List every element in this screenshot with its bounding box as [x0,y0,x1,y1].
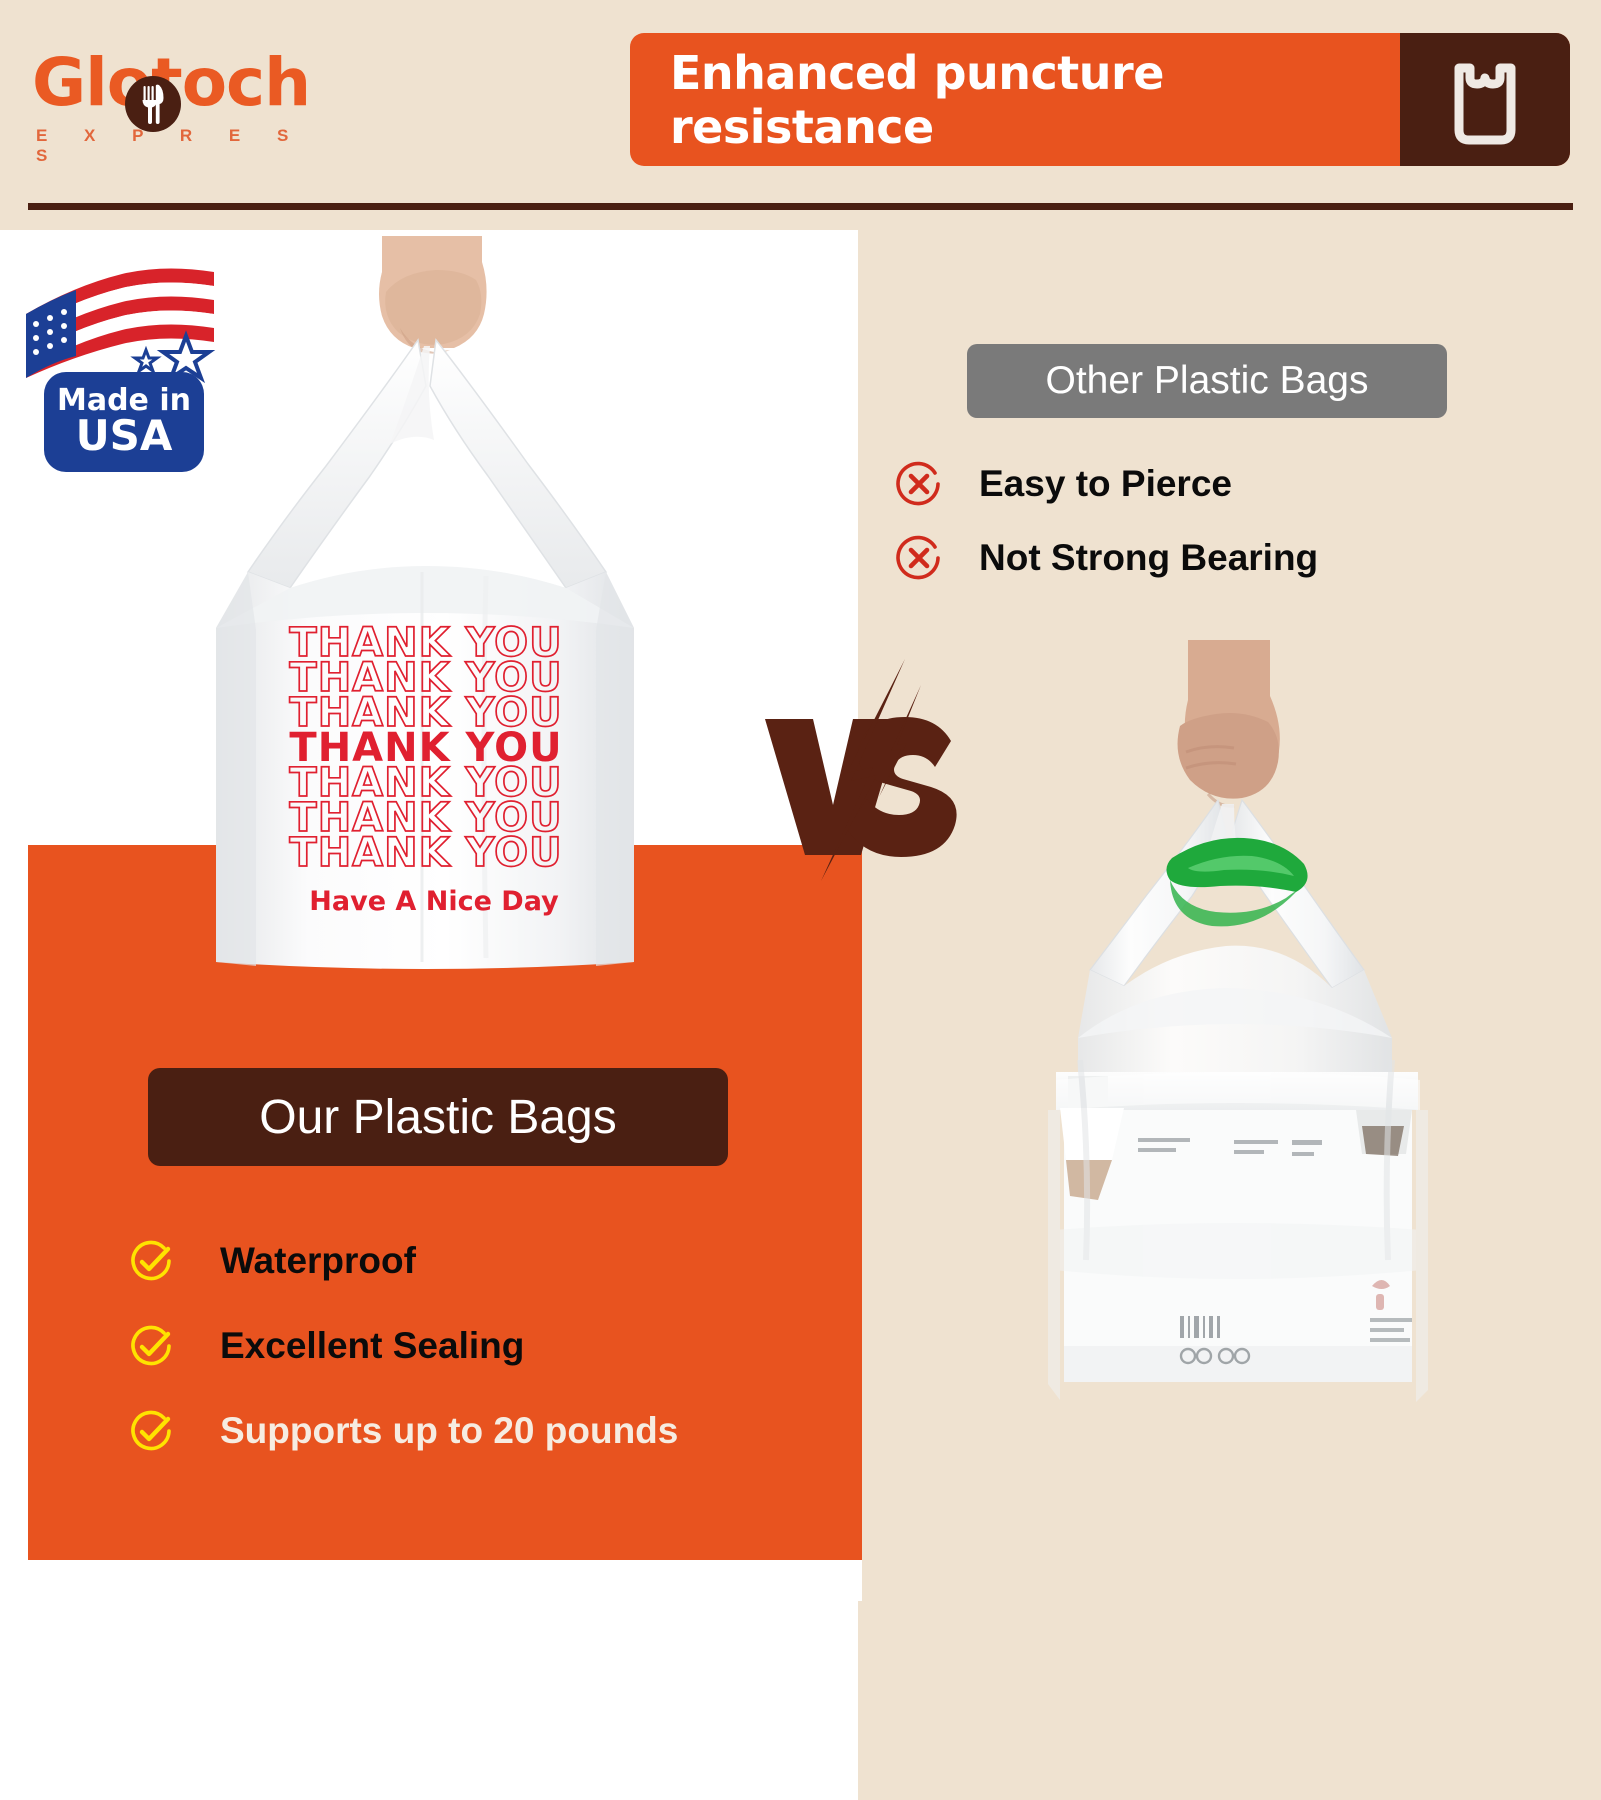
list-item-label: Easy to Pierce [979,463,1232,505]
brand-logo: Glotoch E X P R E S S [32,54,332,154]
our-bag-photo: THANK YOUTHANK YOUTHANK YOUTHANK YOUTHAN… [186,236,664,976]
our-bags-title: Our Plastic Bags [259,1090,616,1145]
our-bags-title-box: Our Plastic Bags [148,1068,728,1166]
feature-banner-text-wrap: Enhanced puncture resistance [630,33,1400,166]
circle-x-icon [895,460,943,508]
list-item-label: Waterproof [220,1240,416,1282]
feature-banner: Enhanced puncture resistance [630,33,1570,166]
brand-tagline: E X P R E S S [36,126,332,166]
our-bags-feature-list: Waterproof Excellent Sealing Supports up… [128,1238,808,1493]
other-bags-title: Other Plastic Bags [1046,359,1369,403]
list-item: Supports up to 20 pounds [128,1408,808,1454]
bag-handles [248,340,606,588]
versus-graphic [755,655,975,885]
bag-print: THANK YOUTHANK YOUTHANK YOUTHANK YOUTHAN… [289,620,562,917]
infographic-canvas: Glotoch E X P R E S S Enhanced punctur [0,0,1601,1601]
fork-icon [141,84,165,124]
plastic-bag-icon [1446,54,1524,146]
header-divider [28,203,1573,210]
other-bags-feature-list: Easy to Pierce Not Strong Bearing [895,460,1535,608]
hand-illustration [379,236,487,354]
competitor-bag-illustration [1020,640,1450,1520]
hand-illustration [1178,640,1280,806]
list-item: Waterproof [128,1238,808,1284]
circle-x-icon [895,534,943,582]
feature-banner-icon-box [1400,33,1570,166]
list-item-label: Supports up to 20 pounds [220,1410,678,1452]
usa-label: USA [76,415,173,457]
header-bar: Glotoch E X P R E S S Enhanced punctur [0,0,1601,206]
other-bag-photo [1020,640,1450,1520]
list-item-label: Not Strong Bearing [979,537,1318,579]
circle-check-icon [128,1323,174,1369]
other-bags-title-box: Other Plastic Bags [967,344,1447,418]
bag-print-footer: Have A Nice Day [309,886,559,917]
list-item: Easy to Pierce [895,460,1535,508]
list-item-label: Excellent Sealing [220,1325,524,1367]
made-in-usa-plate: Made in USA [44,372,204,472]
vs-logo [755,655,975,885]
thank-you-bag-illustration: THANK YOUTHANK YOUTHANK YOUTHANK YOUTHAN… [186,236,664,976]
fork-in-circle-icon [125,76,181,132]
circle-check-icon [128,1238,174,1284]
bag-print-line: THANK YOU [289,830,562,876]
list-item: Not Strong Bearing [895,534,1535,582]
list-item: Excellent Sealing [128,1323,808,1369]
feature-banner-title: Enhanced puncture resistance [670,46,1400,154]
bottom-white-strip [0,1560,862,1601]
circle-check-icon [128,1408,174,1454]
